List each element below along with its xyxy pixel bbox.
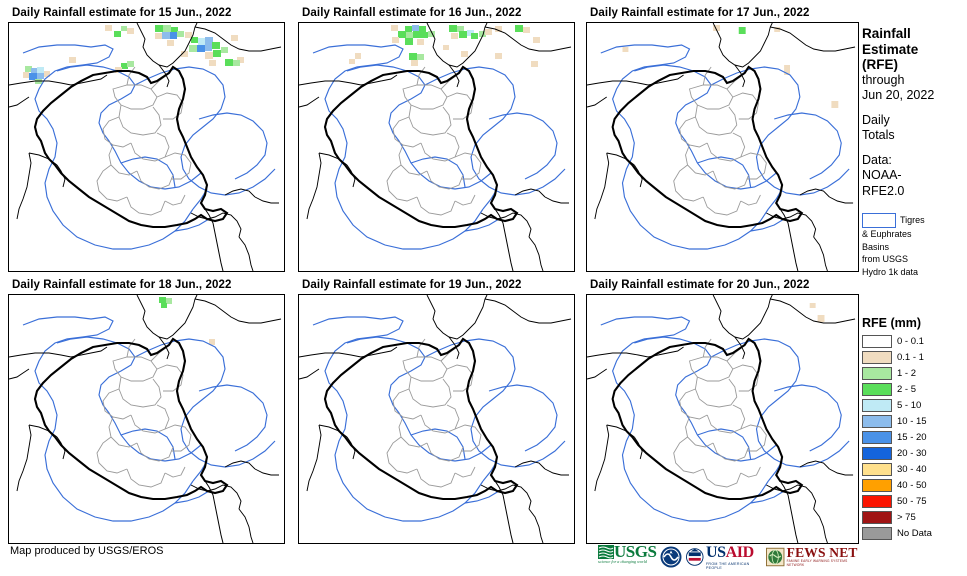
- map-frame-2[interactable]: [298, 22, 575, 272]
- rfe-legend-label: 30 - 40: [897, 464, 927, 475]
- fews-net-logo-tagline: FAMINE EARLY WARNING SYSTEMS NETWORK: [787, 559, 860, 567]
- panel-title-3: Daily Rainfall estimate for 17 Jun., 202…: [590, 6, 810, 20]
- map-frame-5[interactable]: [298, 294, 575, 544]
- rain-cells-2: [349, 25, 540, 67]
- sidebar-through-label: through: [862, 73, 967, 89]
- usaid-logo-text-red: AID: [726, 544, 754, 561]
- rfe-legend-label: > 75: [897, 512, 916, 523]
- rfe-legend-label: 15 - 20: [897, 432, 927, 443]
- rfe-legend-label: 20 - 30: [897, 448, 927, 459]
- usgs-logo-text: USGS: [614, 544, 656, 559]
- rfe-legend-title: RFE (mm): [862, 316, 967, 330]
- basin-line4: from USGS: [862, 254, 967, 266]
- partner-logos: USGS science for a changing world USAID …: [598, 541, 860, 573]
- rfe-legend-label: 0 - 0.1: [897, 336, 924, 347]
- rfe-legend-swatch: [862, 415, 892, 428]
- rfe-legend-item[interactable]: 2 - 5: [862, 382, 967, 397]
- map-frame-4[interactable]: [8, 294, 285, 544]
- basin-line5: Hydro 1k data: [862, 267, 967, 279]
- rfe-legend-item[interactable]: 30 - 40: [862, 462, 967, 477]
- rfe-legend-item[interactable]: 15 - 20: [862, 430, 967, 445]
- rfe-legend-item[interactable]: 1 - 2: [862, 366, 967, 381]
- noaa-logo[interactable]: [660, 544, 682, 570]
- panel-title-6: Daily Rainfall estimate for 20 Jun., 202…: [590, 278, 810, 292]
- usaid-logo-text-blue: US: [706, 544, 726, 561]
- basin-swatch: [862, 213, 896, 228]
- sidebar-data-line2: NOAA-: [862, 168, 967, 184]
- neighbor-borders-2: [299, 23, 571, 271]
- rfe-legend-label: 40 - 50: [897, 480, 927, 491]
- rfe-legend-swatch: [862, 495, 892, 508]
- neighbor-borders-3: [587, 23, 855, 271]
- neighbor-borders-4: [9, 295, 281, 543]
- rfe-legend-swatch: [862, 351, 892, 364]
- rfe-legend-item[interactable]: 5 - 10: [862, 398, 967, 413]
- basin-outline-5: [313, 317, 565, 521]
- sidebar-heading-line3: (RFE): [862, 57, 967, 73]
- admin-boundaries-4: [97, 339, 191, 487]
- fews-net-logo[interactable]: FEWS NET FAMINE EARLY WARNING SYSTEMS NE…: [766, 544, 860, 570]
- usgs-logo-tagline: science for a changing world: [598, 559, 647, 564]
- rfe-legend-swatch: [862, 527, 892, 540]
- neighbor-borders-5: [299, 295, 571, 543]
- panel-title-1: Daily Rainfall estimate for 15 Jun., 202…: [12, 6, 232, 20]
- rfe-legend-item[interactable]: 10 - 15: [862, 414, 967, 429]
- map-frame-3[interactable]: [586, 22, 859, 272]
- usaid-logo[interactable]: USAID FROM THE AMERICAN PEOPLE: [686, 544, 762, 570]
- map-frame-1[interactable]: [8, 22, 285, 272]
- map-graphic-1: [9, 23, 284, 271]
- sidebar-totals-line1: Daily: [862, 113, 967, 129]
- rfe-legend-item[interactable]: 40 - 50: [862, 478, 967, 493]
- rain-cells-4: [159, 297, 215, 345]
- rain-cells-6: [810, 303, 825, 322]
- admin-boundaries-3: [674, 67, 767, 215]
- rfe-legend-swatch: [862, 463, 892, 476]
- rfe-legend-label: 0.1 - 1: [897, 352, 924, 363]
- fews-net-logo-text: FEWS NET: [787, 547, 858, 559]
- rfe-legend-item[interactable]: No Data: [862, 526, 967, 541]
- sidebar-heading-line1: Rainfall: [862, 26, 967, 42]
- usaid-seal-icon: [686, 546, 704, 568]
- basin-label: Tigres: [900, 213, 925, 226]
- rain-cells-1: [23, 25, 244, 84]
- map-graphic-3: [587, 23, 858, 271]
- admin-boundaries-2: [387, 67, 481, 215]
- rfe-legend-swatch: [862, 335, 892, 348]
- basin-outline-3: [601, 45, 849, 249]
- usaid-logo-tagline: FROM THE AMERICAN PEOPLE: [706, 562, 762, 570]
- map-graphic-4: [9, 295, 284, 543]
- basin-outline-1: [23, 45, 275, 249]
- basin-outline-6: [601, 317, 849, 521]
- map-frame-6[interactable]: [586, 294, 859, 544]
- usgs-wave-icon: [598, 545, 614, 559]
- usgs-logo[interactable]: USGS science for a changing world: [598, 544, 656, 570]
- noaa-seal-icon: [660, 546, 682, 568]
- basin-line3: Basins: [862, 242, 967, 254]
- basin-line2: & Euphrates: [862, 229, 967, 241]
- map-graphic-6: [587, 295, 858, 543]
- map-graphic-2: [299, 23, 574, 271]
- rfe-legend-swatch: [862, 479, 892, 492]
- panel-title-2: Daily Rainfall estimate for 16 Jun., 202…: [302, 6, 522, 20]
- panel-title-5: Daily Rainfall estimate for 19 Jun., 202…: [302, 278, 522, 292]
- admin-boundaries-6: [674, 339, 767, 487]
- sidebar-data-line3: RFE2.0: [862, 184, 967, 200]
- rfe-legend-swatch: [862, 399, 892, 412]
- neighbor-borders-6: [587, 295, 855, 543]
- rfe-legend-swatch: [862, 383, 892, 396]
- rfe-legend-rows: 0 - 0.10.1 - 11 - 22 - 55 - 1010 - 1515 …: [862, 334, 967, 541]
- rfe-legend-label: 1 - 2: [897, 368, 916, 379]
- rfe-legend-label: No Data: [897, 528, 932, 539]
- sidebar-totals-line2: Totals: [862, 128, 967, 144]
- rfe-legend-swatch: [862, 367, 892, 380]
- rfe-legend-item[interactable]: 0 - 0.1: [862, 334, 967, 349]
- sidebar-through-date: Jun 20, 2022: [862, 88, 967, 104]
- admin-boundaries-1: [97, 67, 191, 215]
- rfe-legend: RFE (mm) 0 - 0.10.1 - 11 - 22 - 55 - 101…: [862, 316, 967, 542]
- sidebar-heading-line2: Estimate: [862, 42, 967, 58]
- rfe-legend-item[interactable]: > 75: [862, 510, 967, 525]
- rfe-legend-item[interactable]: 0.1 - 1: [862, 350, 967, 365]
- fews-globe-icon: [766, 547, 784, 567]
- panel-title-4: Daily Rainfall estimate for 18 Jun., 202…: [12, 278, 232, 292]
- map-graphic-5: [299, 295, 574, 543]
- rfe-legend-item[interactable]: 20 - 30: [862, 446, 967, 461]
- basin-outline-2: [313, 45, 565, 249]
- rfe-legend-swatch: [862, 511, 892, 524]
- sidebar-data-line1: Data:: [862, 153, 967, 169]
- basin-legend-entry: Tigres: [862, 213, 967, 228]
- rfe-legend-label: 10 - 15: [897, 416, 927, 427]
- rfe-legend-swatch: [862, 431, 892, 444]
- rfe-legend-swatch: [862, 447, 892, 460]
- basin-outline-4: [23, 317, 275, 521]
- rfe-legend-label: 5 - 10: [897, 400, 921, 411]
- rfe-legend-label: 50 - 75: [897, 496, 927, 507]
- rfe-legend-item[interactable]: 50 - 75: [862, 494, 967, 509]
- admin-boundaries-5: [387, 339, 481, 487]
- rfe-legend-label: 2 - 5: [897, 384, 916, 395]
- map-credit: Map produced by USGS/EROS: [10, 545, 163, 557]
